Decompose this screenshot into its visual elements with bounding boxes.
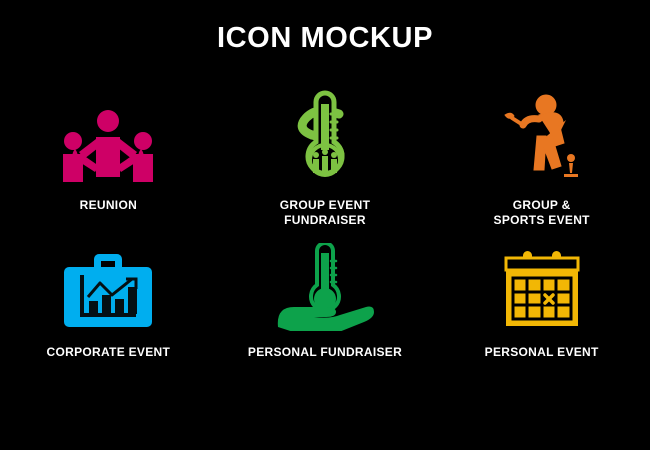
icon-card-personal-event[interactable]: PERSONAL EVENT — [433, 243, 650, 388]
icon-label-group-event-fundraiser: GROUP EVENT FUNDRAISER — [280, 198, 370, 228]
label-line-1: GROUP EVENT — [280, 198, 370, 212]
label-line-2: FUNDRAISER — [284, 213, 366, 227]
personal-fundraiser-art — [270, 243, 380, 331]
label-line-1: PERSONAL FUNDRAISER — [248, 345, 402, 359]
label-line-2: SPORTS EVENT — [494, 213, 590, 227]
icon-label-corporate-event: CORPORATE EVENT — [47, 345, 171, 360]
icon-card-group-event-fundraiser[interactable]: GROUP EVENT FUNDRAISER — [217, 88, 434, 243]
icon-label-reunion: REUNION — [80, 198, 137, 213]
thermometer-dollar-people-icon — [277, 88, 373, 188]
label-line-1: REUNION — [80, 198, 137, 212]
label-line-1: GROUP & — [513, 198, 571, 212]
icon-card-reunion[interactable]: REUNION — [0, 88, 217, 243]
icon-label-personal-event: PERSONAL EVENT — [485, 345, 599, 360]
calendar-x-mark-icon — [492, 249, 592, 331]
icon-label-group-sports-event: GROUP & SPORTS EVENT — [494, 198, 590, 228]
golfer-art — [492, 88, 592, 188]
label-line-1: CORPORATE EVENT — [47, 345, 171, 359]
three-people-group-icon — [53, 108, 163, 188]
golfer-swing-icon — [492, 88, 592, 188]
personal-event-art — [492, 243, 592, 331]
reunion-art — [53, 88, 163, 188]
icon-card-corporate-event[interactable]: CORPORATE EVENT — [0, 243, 217, 388]
icon-card-group-sports-event[interactable]: GROUP & SPORTS EVENT — [433, 88, 650, 243]
corporate-art — [56, 243, 160, 331]
group-fundraiser-art — [277, 88, 373, 188]
icon-card-personal-fundraiser[interactable]: PERSONAL FUNDRAISER — [217, 243, 434, 388]
briefcase-bar-chart-icon — [56, 245, 160, 331]
page-title: ICON MOCKUP — [0, 22, 650, 55]
icon-grid: REUNION — [0, 88, 650, 418]
icon-label-personal-fundraiser: PERSONAL FUNDRAISER — [248, 345, 402, 360]
label-line-1: PERSONAL EVENT — [485, 345, 599, 359]
hand-holding-thermometer-icon — [270, 243, 380, 331]
icon-mockup-board: ICON MOCKUP — [0, 0, 650, 450]
